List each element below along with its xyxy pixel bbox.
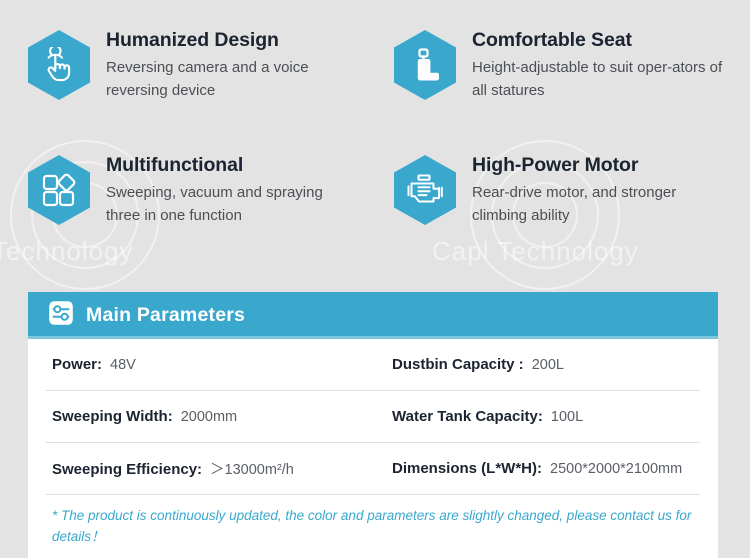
panel-header-underline — [28, 336, 718, 339]
param-label: Sweeping Efficiency: — [52, 461, 202, 478]
param-value: 100L — [551, 409, 583, 425]
param-label: Sweeping Width: — [52, 408, 173, 425]
feature-icon-badge — [394, 155, 456, 225]
param-cell: Dustbin Capacity : 200L — [392, 356, 700, 373]
feature-icon-badge — [394, 30, 456, 100]
param-cell: Dimensions (L*W*H): 2500*2000*2100mm — [392, 460, 700, 477]
feature-icon-badge — [28, 155, 90, 225]
main-parameters-panel: Main Parameters Power: 48V Dustbin Capac… — [28, 292, 718, 558]
feature-icon-badge — [28, 30, 90, 100]
feature-description: Reversing camera and a voice reversing d… — [106, 57, 361, 102]
param-cell: Sweeping Width: 2000mm — [46, 408, 392, 425]
feature-card-comfortable-seat: Comfortable Seat Height-adjustable to su… — [380, 26, 732, 151]
feature-title: Comfortable Seat — [472, 28, 727, 52]
feature-title: Humanized Design — [106, 28, 361, 52]
panel-body: Power: 48V Dustbin Capacity : 200L Sweep… — [28, 339, 718, 558]
four-blocks-icon — [28, 155, 90, 225]
table-row: Power: 48V Dustbin Capacity : 200L — [46, 339, 700, 391]
sliders-icon — [48, 300, 74, 331]
table-row: Sweeping Width: 2000mm Water Tank Capaci… — [46, 391, 700, 443]
feature-description: Sweeping, vacuum and spraying three in o… — [106, 182, 361, 227]
feature-grid: Humanized Design Reversing camera and a … — [0, 0, 750, 276]
engine-motor-icon — [394, 155, 456, 225]
param-label: Dimensions (L*W*H): — [392, 460, 542, 477]
param-value: 48V — [110, 357, 136, 373]
feature-text: High-Power Motor Rear-drive motor, and s… — [472, 151, 727, 227]
disclaimer-note: * The product is continuously updated, t… — [46, 495, 700, 558]
feature-description: Rear-drive motor, and stronger climbing … — [472, 182, 727, 227]
feature-text: Comfortable Seat Height-adjustable to su… — [472, 26, 727, 102]
param-value: 2000mm — [181, 409, 237, 425]
param-cell: Water Tank Capacity: 100L — [392, 408, 700, 425]
feature-title: Multifunctional — [106, 153, 361, 177]
param-label: Dustbin Capacity : — [392, 356, 524, 373]
tap-hand-icon — [28, 30, 90, 100]
feature-card-multifunctional: Multifunctional Sweeping, vacuum and spr… — [28, 151, 380, 276]
feature-text: Humanized Design Reversing camera and a … — [106, 26, 361, 102]
feature-card-high-power-motor: High-Power Motor Rear-drive motor, and s… — [380, 151, 732, 276]
panel-title: Main Parameters — [86, 304, 245, 327]
feature-title: High-Power Motor — [472, 153, 727, 177]
param-cell: Power: 48V — [46, 356, 392, 373]
param-cell: Sweeping Efficiency: ＞13000m²/h — [46, 458, 392, 479]
panel-header: Main Parameters — [28, 292, 718, 339]
param-value: 2500*2000*2100mm — [550, 461, 682, 477]
param-label: Power: — [52, 356, 102, 373]
param-label: Water Tank Capacity: — [392, 408, 543, 425]
feature-description: Height-adjustable to suit oper-ators of … — [472, 57, 727, 102]
table-row: Sweeping Efficiency: ＞13000m²/h Dimensio… — [46, 443, 700, 495]
param-value: 200L — [532, 357, 564, 373]
feature-card-humanized-design: Humanized Design Reversing camera and a … — [28, 26, 380, 151]
seat-icon — [394, 30, 456, 100]
feature-text: Multifunctional Sweeping, vacuum and spr… — [106, 151, 361, 227]
param-value: ＞13000m²/h — [210, 458, 294, 479]
